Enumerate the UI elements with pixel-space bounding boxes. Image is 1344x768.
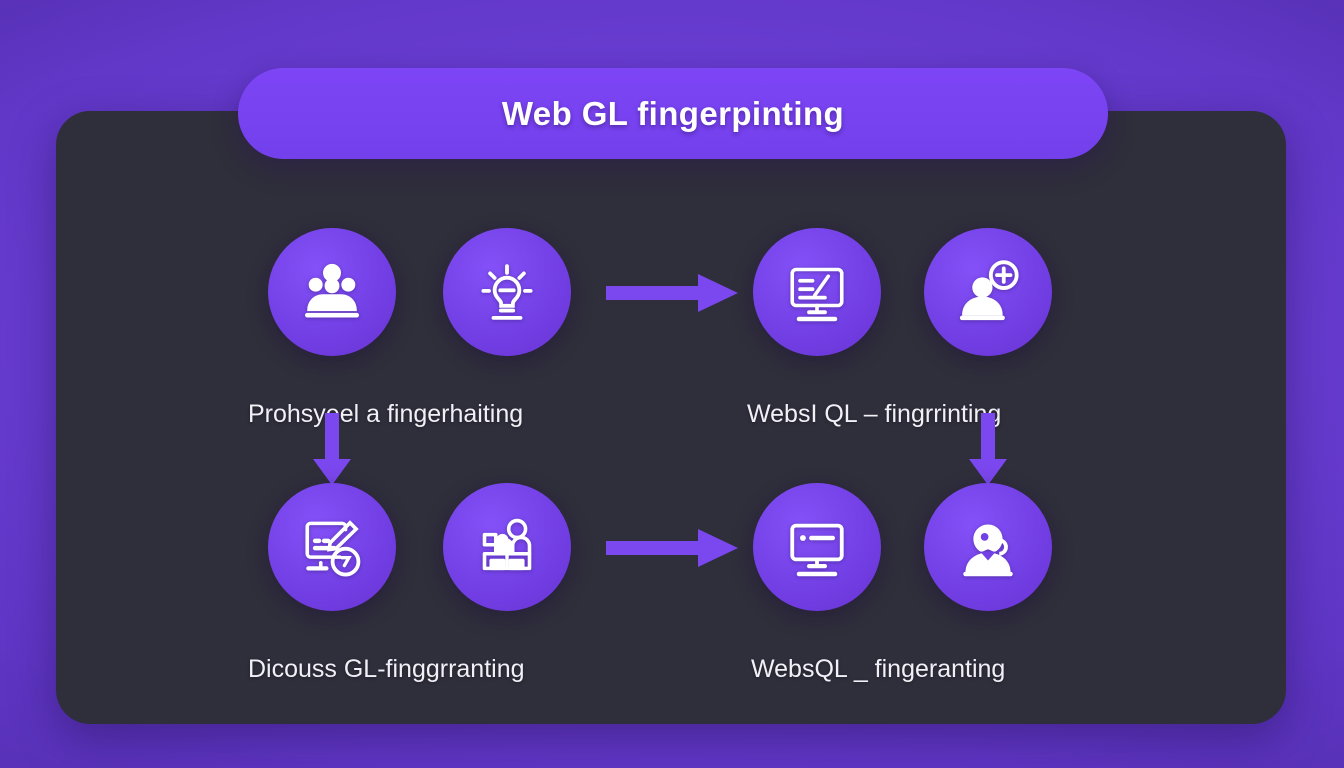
lightbulb-idea-icon (471, 256, 543, 328)
arrow-right-vertical (965, 413, 1011, 485)
icon-circle (443, 483, 571, 611)
node-monitor-screen[interactable]: WebsQL _ fingeranting (753, 483, 881, 611)
screen-pencil-badge-icon (296, 511, 368, 583)
arrow-right-icon (606, 525, 738, 571)
arrow-down-icon (309, 413, 355, 485)
arrow-right-icon (606, 270, 738, 316)
node-lightbulb-idea[interactable] (443, 228, 571, 356)
icon-circle (924, 483, 1052, 611)
node-user-headset[interactable] (924, 483, 1052, 611)
people-group-icon (296, 256, 368, 328)
arrow-left-vertical (309, 413, 355, 485)
page-title: Web GL fingerpinting (502, 95, 844, 133)
node-label-bottom-right: WebsQL _ fingeranting (751, 655, 1005, 684)
icon-circle (753, 483, 881, 611)
monitor-screen-icon (781, 511, 853, 583)
audience-group-icon (471, 511, 543, 583)
node-people-group[interactable]: Prohsyeel a fingerhaiting (268, 228, 396, 356)
title-pill: Web GL fingerpinting (238, 68, 1108, 159)
node-audience-group[interactable] (443, 483, 571, 611)
icon-circle (268, 483, 396, 611)
user-headset-icon (952, 511, 1024, 583)
arrow-bottom-horizontal (606, 525, 738, 571)
add-user-icon (952, 256, 1024, 328)
arrow-down-icon (965, 413, 1011, 485)
icon-circle (443, 228, 571, 356)
node-monitor-edit[interactable]: WebsI QL – fingrrinting (753, 228, 881, 356)
node-add-user[interactable] (924, 228, 1052, 356)
diagram-card (56, 111, 1286, 724)
node-label-top-left: Prohsyeel a fingerhaiting (248, 400, 523, 429)
node-label-top-right: WebsI QL – fingrrinting (747, 400, 1001, 429)
node-screen-pencil-badge[interactable]: Dicouss GL-finggrranting (268, 483, 396, 611)
monitor-edit-icon (781, 256, 853, 328)
node-label-bottom-left: Dicouss GL-finggrranting (248, 655, 525, 684)
icon-circle (753, 228, 881, 356)
icon-circle (268, 228, 396, 356)
icon-circle (924, 228, 1052, 356)
arrow-top-horizontal (606, 270, 738, 316)
